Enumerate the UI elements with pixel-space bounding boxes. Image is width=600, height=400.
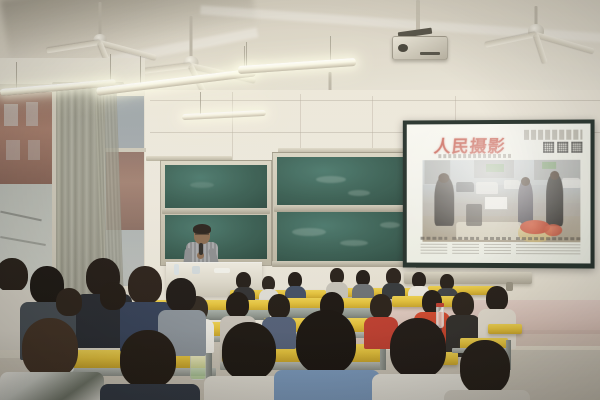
photo-pedestrian bbox=[546, 174, 563, 226]
fan-rod bbox=[99, 2, 102, 36]
brick-window-line bbox=[28, 140, 40, 160]
fan-rod bbox=[190, 16, 193, 58]
chalk-tray bbox=[272, 261, 416, 267]
brick-window-line bbox=[6, 140, 20, 160]
masthead-info-bar bbox=[524, 130, 582, 140]
radiator-valve bbox=[506, 282, 513, 291]
photo-vendor bbox=[434, 176, 454, 226]
student-head bbox=[370, 294, 392, 319]
student-torso bbox=[444, 390, 530, 400]
light-suspension-wire bbox=[200, 92, 201, 114]
student-torso bbox=[0, 372, 104, 400]
wall-panel-line bbox=[150, 100, 600, 101]
student-head bbox=[0, 258, 28, 292]
lectern-paper bbox=[214, 268, 230, 273]
caption-column bbox=[452, 237, 479, 254]
student-torso bbox=[274, 370, 380, 400]
qr-code-icon bbox=[543, 142, 554, 153]
projector-vent bbox=[420, 52, 440, 55]
student-head bbox=[486, 286, 508, 311]
student-head bbox=[56, 288, 82, 316]
blackboard-panel-upper bbox=[277, 157, 411, 207]
photo-car bbox=[504, 180, 520, 189]
chalk-mark bbox=[292, 228, 326, 236]
photo-chili-pile bbox=[544, 224, 562, 236]
student-head bbox=[390, 318, 446, 378]
student-head bbox=[226, 292, 249, 318]
student-head bbox=[22, 318, 78, 378]
wall-panel-line bbox=[232, 92, 233, 162]
fan-rod bbox=[535, 6, 538, 26]
lectern-cup bbox=[192, 266, 200, 274]
caption-column bbox=[421, 237, 448, 254]
ceiling-fan bbox=[466, 6, 600, 66]
student-head bbox=[268, 294, 290, 319]
newspaper-photo bbox=[423, 160, 581, 243]
blackboard-panel-lower bbox=[277, 212, 411, 261]
caption-text bbox=[452, 242, 479, 254]
student-head bbox=[100, 282, 126, 310]
fan-blade bbox=[46, 40, 100, 53]
student-head bbox=[166, 278, 196, 312]
caption-column bbox=[516, 237, 581, 254]
photo-cart bbox=[466, 204, 482, 226]
newspaper-slide: 人民摄影 bbox=[407, 124, 591, 264]
photo-pedestrian-head bbox=[550, 171, 559, 180]
caption-heading bbox=[516, 237, 581, 240]
fan-blade bbox=[535, 32, 594, 53]
blackboard-divider-rail bbox=[274, 205, 414, 212]
projection-screen[interactable]: 人民摄影 bbox=[403, 119, 595, 268]
blackboard-panel-left-upper bbox=[165, 165, 267, 210]
caption-heading bbox=[452, 237, 479, 240]
wall-panel-line bbox=[372, 96, 373, 148]
caption-text bbox=[484, 242, 511, 254]
projector-lens bbox=[398, 44, 408, 52]
wall-panel-line bbox=[300, 94, 301, 154]
photo-price-sign bbox=[484, 196, 508, 210]
caption-heading bbox=[484, 237, 511, 240]
photo-car bbox=[476, 182, 498, 194]
caption-text bbox=[516, 242, 581, 254]
light-suspension-wire bbox=[16, 62, 17, 90]
chalk-mark bbox=[316, 176, 346, 183]
wall-panel-line bbox=[455, 96, 456, 122]
photo-storefront-sign bbox=[486, 164, 504, 172]
masthead-subtitle-bar bbox=[438, 154, 512, 158]
newspaper-captions bbox=[421, 237, 581, 255]
photo-storefront-sign bbox=[542, 162, 556, 169]
lectern-bottle bbox=[174, 264, 179, 275]
brick-window-line bbox=[4, 104, 18, 126]
handheld-microphone bbox=[199, 243, 203, 255]
chalk-mark bbox=[190, 182, 214, 188]
projection-screen-surface: 人民摄影 bbox=[407, 124, 591, 264]
chalk-mark bbox=[380, 222, 400, 228]
student-head bbox=[128, 266, 162, 304]
student-head bbox=[222, 322, 276, 380]
bottle-cap bbox=[436, 303, 444, 307]
empty-desk bbox=[488, 324, 522, 334]
student-head bbox=[452, 292, 474, 317]
photo-car bbox=[562, 178, 580, 188]
chalk-mark bbox=[340, 240, 368, 246]
student-head bbox=[296, 310, 356, 374]
brick-window-line bbox=[26, 102, 38, 126]
blackboard-divider-rail bbox=[162, 208, 270, 214]
photo-pedestrian bbox=[518, 180, 533, 226]
caption-column bbox=[484, 237, 511, 254]
fan-blade bbox=[485, 32, 537, 48]
student-head bbox=[460, 340, 510, 394]
chalk-mark bbox=[348, 190, 370, 196]
newspaper-masthead: 人民摄影 bbox=[433, 132, 515, 154]
qr-code-icon bbox=[557, 142, 568, 153]
classroom-photo: 人民摄影 bbox=[0, 0, 600, 400]
qr-block-row bbox=[543, 142, 582, 153]
qr-code-icon bbox=[571, 142, 582, 153]
caption-heading bbox=[421, 237, 448, 240]
photo-vendor-head bbox=[438, 173, 449, 183]
lecturer-glasses bbox=[195, 233, 209, 235]
caption-text bbox=[421, 242, 448, 254]
student-torso bbox=[100, 384, 200, 400]
student-head bbox=[120, 330, 176, 388]
photo-car bbox=[456, 182, 474, 192]
photo-pedestrian-head bbox=[521, 177, 530, 186]
